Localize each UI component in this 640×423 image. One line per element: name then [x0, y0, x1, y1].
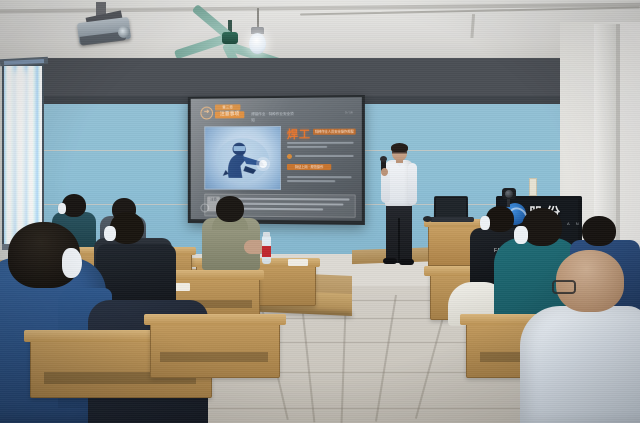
- slide-corner-marker: [200, 203, 209, 212]
- attendee-head: [522, 208, 562, 246]
- desk-shelf: [160, 352, 268, 362]
- welder-illustration-icon: [213, 136, 272, 182]
- ceiling-fan-icon: [222, 32, 238, 44]
- attendee-head: [216, 196, 244, 222]
- water-bottle-label: [262, 246, 271, 257]
- wall-socket: [529, 178, 537, 196]
- presenter-hand: [381, 168, 388, 176]
- slide-body-line: [287, 176, 352, 178]
- face-mask: [58, 203, 66, 214]
- face-mask: [514, 226, 528, 244]
- slide-body-line: [287, 180, 335, 182]
- attendee-head: [582, 216, 616, 246]
- presenter-leg-seam: [398, 218, 400, 263]
- paper-sheet: [288, 259, 308, 266]
- presenter-hair: [391, 143, 408, 152]
- attendee-head: [486, 206, 514, 232]
- glasses-icon: [552, 280, 576, 294]
- slide-body-line: [295, 155, 354, 157]
- desk: [150, 320, 280, 378]
- laptop-base: [430, 217, 474, 222]
- camera-stand: [507, 198, 510, 207]
- slide-body-line: [287, 146, 327, 148]
- face-mask: [104, 226, 116, 241]
- slide-welder-image: [204, 126, 281, 190]
- window-daylight-glow: [10, 70, 30, 240]
- slide-main-title: 焊工: [287, 126, 311, 142]
- slide-bullet-icon: [287, 154, 292, 159]
- presenter-shoe: [399, 259, 414, 265]
- slide-chapter-tag: 第三章: [216, 104, 239, 109]
- face-mask: [480, 216, 490, 230]
- light-bulb-icon: [249, 33, 266, 54]
- slide-body-line: [287, 142, 354, 144]
- camera-lens-icon: [505, 190, 513, 198]
- slide-header-title: 注意事项: [216, 111, 243, 118]
- attendee-shirt: [520, 306, 640, 423]
- slide-header-subtitle: 焊接作业 · 特种作业安全须知: [251, 111, 297, 123]
- slide-section-bar: 持证上岗 · 规范操作: [288, 164, 330, 170]
- slide-page-number: 3 / 16: [332, 109, 352, 115]
- face-mask: [62, 248, 82, 278]
- slide-title-badge: 特种作业人员安全操作规程: [314, 128, 355, 134]
- microphone-head-icon: [380, 156, 387, 162]
- desk-top: [144, 314, 286, 325]
- water-bottle-cap: [263, 232, 270, 237]
- mouse-icon: [423, 216, 432, 222]
- classroom-training-photo: ➔ 第三章 注意事项 焊接作业 · 特种作业安全须知 3 / 16: [0, 0, 640, 423]
- laptop-screen: [436, 198, 466, 217]
- presenter-shoe: [383, 258, 397, 264]
- slide-arrow-glyph: ➔: [204, 110, 210, 115]
- presenter-arm: [408, 163, 417, 205]
